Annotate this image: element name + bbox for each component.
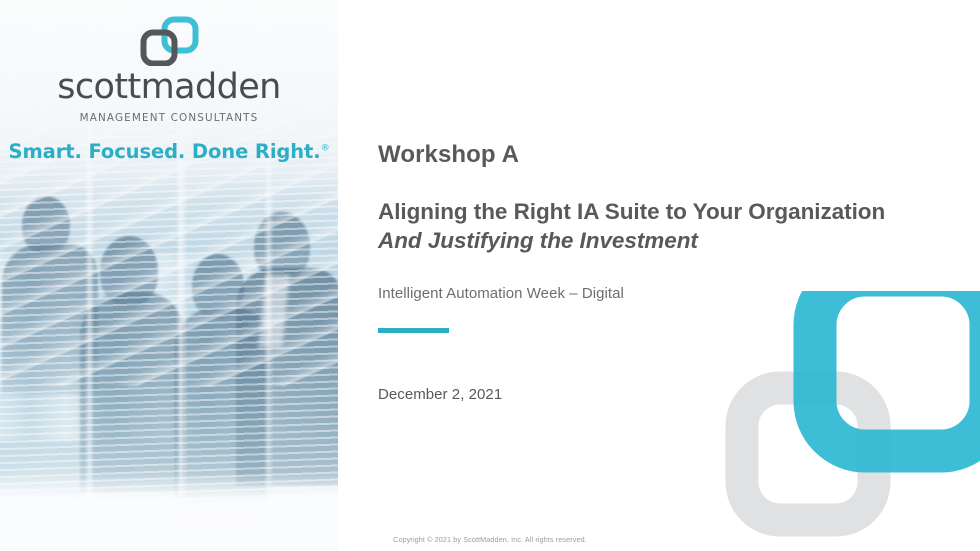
- copyright-notice: Copyright © 2021 by ScottMadden, Inc. Al…: [0, 535, 980, 544]
- title-slide: scottmadden MANAGEMENT CONSULTANTS Smart…: [0, 0, 980, 551]
- scottmadden-logo: scottmadden MANAGEMENT CONSULTANTS Smart…: [0, 16, 338, 163]
- overlapping-rounded-squares-icon: [138, 16, 200, 66]
- accent-divider-bar: [378, 328, 449, 333]
- brand-wordmark: scottmadden: [0, 70, 338, 105]
- brand-sub-wordmark: MANAGEMENT CONSULTANTS: [0, 112, 338, 124]
- slide-title: Aligning the Right IA Suite to Your Orga…: [378, 198, 885, 255]
- slide-title-line-1: Aligning the Right IA Suite to Your Orga…: [378, 199, 885, 224]
- event-name: Intelligent Automation Week – Digital: [378, 285, 624, 302]
- registered-trademark-icon: ®: [321, 144, 330, 154]
- slide-content: Workshop A Aligning the Right IA Suite t…: [378, 0, 938, 551]
- brand-tagline: Smart. Focused. Done Right.®: [0, 140, 338, 163]
- slide-title-line-2: And Justifying the Investment: [378, 227, 885, 256]
- brand-tagline-text: Smart. Focused. Done Right.: [9, 140, 321, 163]
- presentation-date: December 2, 2021: [378, 386, 502, 403]
- workshop-label: Workshop A: [378, 141, 519, 169]
